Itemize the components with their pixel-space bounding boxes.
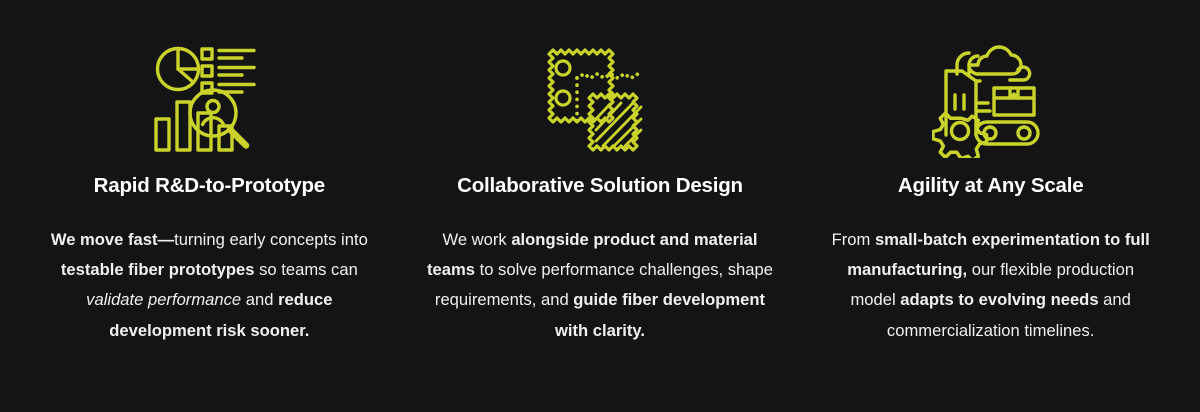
text-run: We move fast— <box>51 230 174 249</box>
text-run: testable fiber prototypes <box>61 260 259 279</box>
feature-body: From small-batch experimentation to full… <box>826 225 1156 346</box>
text-run: so teams can <box>259 260 358 279</box>
factory-production-icon <box>932 40 1050 158</box>
feature-card-rapid-rd-to-prototype: Rapid R&D-to-Prototype We move fast—turn… <box>14 40 405 346</box>
fabric-swatches-icon <box>541 40 659 158</box>
feature-body: We work alongside product and material t… <box>425 225 775 346</box>
data-analysis-icon <box>150 40 268 158</box>
feature-title: Rapid R&D-to-Prototype <box>94 174 325 198</box>
text-run: From <box>832 230 875 249</box>
feature-card-collaborative-solution-design: Collaborative Solution Design We work al… <box>405 40 796 346</box>
feature-title: Collaborative Solution Design <box>457 174 743 198</box>
feature-title: Agility at Any Scale <box>898 174 1084 198</box>
features-section: Rapid R&D-to-Prototype We move fast—turn… <box>0 0 1200 412</box>
feature-body: We move fast—turning early concepts into… <box>37 225 382 346</box>
text-run: We work <box>442 230 511 249</box>
feature-card-agility-at-any-scale: Agility at Any Scale From small-batch ex… <box>795 40 1186 346</box>
text-run: turning early concepts into <box>174 230 368 249</box>
text-run: guide fiber development with clarity. <box>555 290 765 339</box>
text-run: and <box>241 290 278 309</box>
text-run: adapts to evolving needs <box>900 290 1103 309</box>
text-run: validate performance <box>86 290 241 309</box>
